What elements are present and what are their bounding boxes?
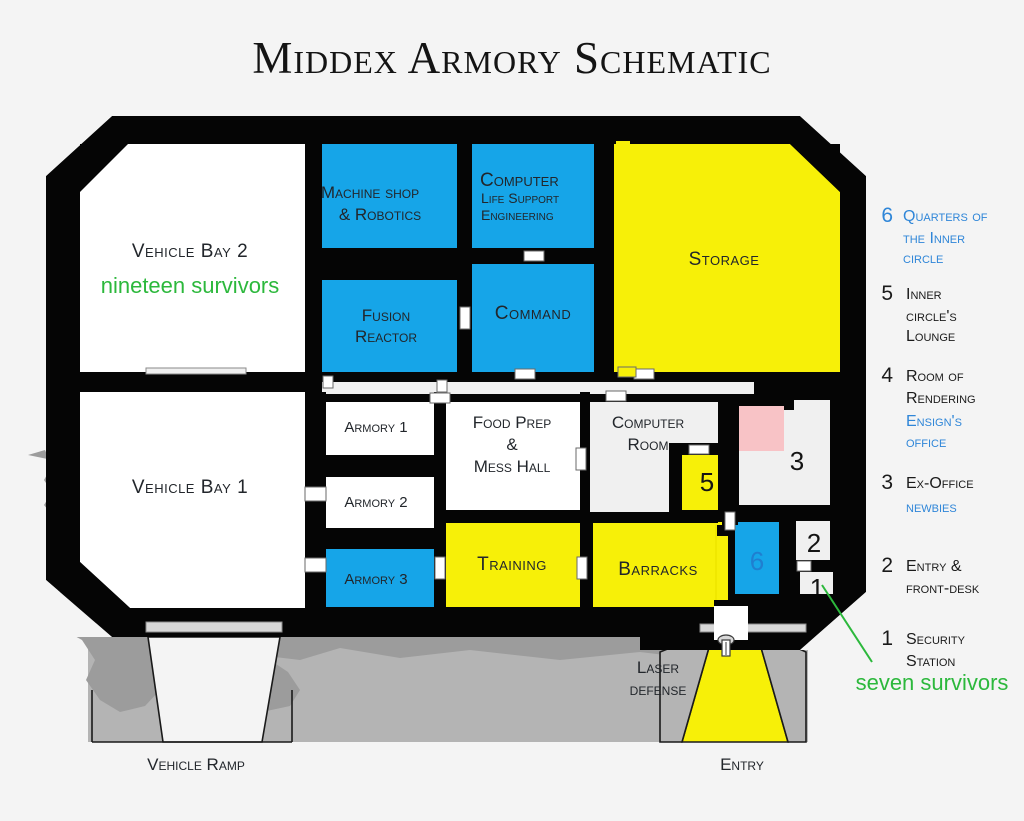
legend-item-2[interactable]: 2 Entry & front-desk bbox=[881, 554, 980, 597]
room-armory-3[interactable]: Armory 3 bbox=[326, 549, 434, 607]
legend-text-1-l1: Security bbox=[906, 631, 966, 648]
room-armory-1[interactable]: Armory 1 bbox=[326, 400, 434, 455]
room-3[interactable]: 3 bbox=[739, 400, 830, 505]
legend-number-5: 5 bbox=[881, 282, 893, 305]
room-training[interactable]: Training bbox=[446, 523, 580, 607]
room-label-vehicle-bay-1: Vehicle Bay 1 bbox=[132, 477, 248, 498]
room-label-barracks: Barracks bbox=[618, 559, 698, 580]
legend-text-4-l2: Rendering bbox=[906, 390, 976, 407]
room-label-computer-l2: Life Support bbox=[481, 190, 559, 206]
annotation-survivors-bay2: nineteen survivors bbox=[101, 273, 280, 298]
room-barracks[interactable]: Barracks bbox=[593, 523, 728, 607]
room-number-6: 6 bbox=[750, 546, 764, 576]
room-label-foodprep-l2: & bbox=[506, 435, 518, 454]
room-vehicle-bay-1[interactable]: Vehicle Bay 1 bbox=[80, 392, 305, 608]
legend-text-5-l2: circle's bbox=[906, 308, 957, 325]
entry-label: Entry bbox=[720, 755, 764, 774]
room-number-3: 3 bbox=[790, 446, 804, 476]
room-label-fusion-l1: Fusion bbox=[362, 306, 410, 325]
room-label-armory-3: Armory 3 bbox=[344, 571, 407, 588]
legend-text-6-l3: circle bbox=[903, 250, 943, 267]
corridor bbox=[322, 380, 762, 394]
legend-text-6-l2: the Inner bbox=[903, 230, 965, 247]
room-label-machine-shop-l1: Machine shop bbox=[321, 183, 419, 202]
legend-number-1: 1 bbox=[881, 627, 893, 650]
room-armory-2[interactable]: Armory 2 bbox=[326, 477, 434, 528]
room-label-machine-shop-l2: & Robotics bbox=[339, 205, 421, 224]
legend-text-5-l1: Inner bbox=[906, 286, 942, 303]
room-storage[interactable]: Storage bbox=[614, 144, 840, 372]
laser-defense-label-l1: Laser bbox=[637, 658, 679, 677]
room-label-storage: Storage bbox=[689, 249, 760, 270]
legend-item-5[interactable]: 5 Inner circle's Lounge bbox=[881, 282, 956, 345]
room-label-foodprep-l1: Food Prep bbox=[473, 413, 551, 432]
room-label-vehicle-bay-2: Vehicle Bay 2 bbox=[132, 241, 248, 262]
room-number-2: 2 bbox=[807, 528, 821, 558]
room-label-training: Training bbox=[477, 554, 547, 575]
vehicle-ramp-label: Vehicle Ramp bbox=[147, 755, 245, 774]
legend-item-3[interactable]: 3 Ex-Office newbies bbox=[881, 471, 973, 516]
legend-number-4: 4 bbox=[881, 364, 893, 387]
legend-text-2-l1: Entry & bbox=[906, 558, 962, 575]
legend-sub-4-l1: Ensign's bbox=[906, 413, 962, 430]
room-number-5: 5 bbox=[700, 467, 714, 497]
floor-plan: Vehicle Bay 2 nineteen survivors Vehicle… bbox=[0, 0, 1024, 821]
room-label-foodprep-l3: Mess Hall bbox=[474, 457, 551, 476]
legend-text-3-l1: Ex-Office bbox=[906, 475, 974, 492]
legend-sub-3-l1: newbies bbox=[906, 499, 957, 516]
room-command[interactable]: Command bbox=[472, 264, 594, 372]
room-label-fusion-l2: Reactor bbox=[355, 327, 417, 346]
entry-corridor bbox=[714, 600, 748, 640]
legend-number-6: 6 bbox=[881, 204, 893, 227]
room-machine-shop[interactable]: Machine shop & Robotics bbox=[321, 144, 457, 248]
room-fusion-reactor[interactable]: Fusion Reactor bbox=[322, 280, 457, 372]
legend-item-6[interactable]: 6 Quarters of the Inner circle bbox=[881, 204, 987, 267]
legend-item-1[interactable]: 1 Security Station bbox=[881, 627, 965, 670]
legend-number-3: 3 bbox=[881, 471, 893, 494]
legend-text-1-l2: Station bbox=[906, 653, 955, 670]
legend-text-4-l1: Room of bbox=[906, 368, 964, 385]
room-label-computer-l1: Computer bbox=[480, 170, 559, 191]
legend-sub-4-l2: office bbox=[906, 434, 946, 451]
legend-text-2-l2: front-desk bbox=[906, 580, 980, 597]
room-label-command: Command bbox=[495, 303, 571, 324]
legend: 6 Quarters of the Inner circle 5 Inner c… bbox=[881, 204, 987, 670]
room-vehicle-bay-2[interactable]: Vehicle Bay 2 nineteen survivors bbox=[80, 144, 305, 372]
annotation-survivors-entry: seven survivors bbox=[856, 670, 1009, 695]
legend-item-4[interactable]: 4 Room of Rendering Ensign's office bbox=[881, 364, 975, 451]
room-label-armory-2: Armory 2 bbox=[344, 494, 407, 511]
legend-number-2: 2 bbox=[881, 554, 893, 577]
room-label-armory-1: Armory 1 bbox=[344, 419, 407, 436]
legend-text-5-l3: Lounge bbox=[906, 328, 955, 345]
legend-text-6-l1: Quarters of bbox=[903, 208, 988, 225]
laser-defense-label-l2: defense bbox=[630, 680, 687, 699]
room-food-prep[interactable]: Food Prep & Mess Hall bbox=[446, 400, 580, 510]
room-label-computer-l3: Engineering bbox=[481, 207, 554, 223]
room-computer[interactable]: Computer Life Support Engineering bbox=[472, 144, 594, 248]
room-label-computerroom-l1: Computer bbox=[612, 413, 685, 432]
room-label-computerroom-l2: Room bbox=[628, 435, 669, 454]
